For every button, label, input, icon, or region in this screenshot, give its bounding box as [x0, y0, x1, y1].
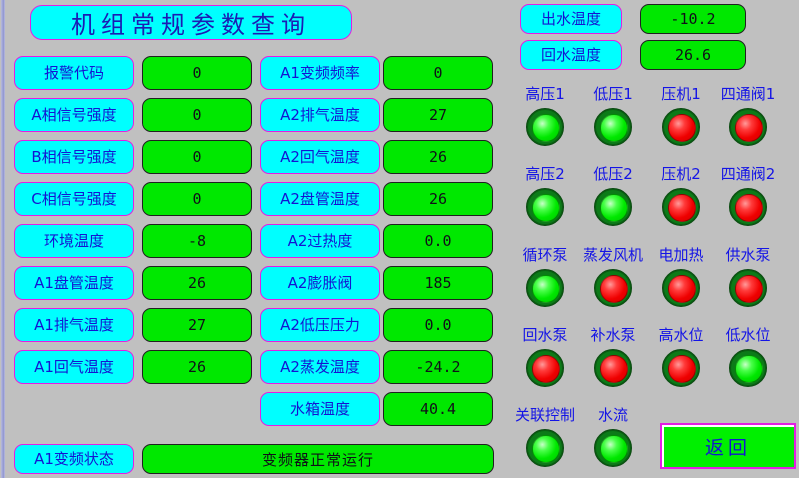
lamp-bulb-11	[735, 275, 763, 303]
water-temp-value-0: -10.2	[640, 4, 746, 34]
lamp-bulb-16	[532, 435, 560, 463]
indicator-lamp-12	[526, 349, 564, 387]
param-mid-label-3: A2盘管温度	[260, 182, 380, 216]
indicator-lamp-10	[662, 269, 700, 307]
indicator-lamp-17	[594, 429, 632, 467]
lamp-bulb-2	[668, 114, 696, 142]
param-mid-label-2: A2回气温度	[260, 140, 380, 174]
lamp-bulb-10	[668, 275, 696, 303]
water-temp-label-1: 回水温度	[520, 40, 622, 70]
lamp-label-7: 四通阀2	[705, 167, 791, 182]
lamp-bulb-15	[735, 355, 763, 383]
param-left-value-4: -8	[142, 224, 252, 258]
lamp-bulb-12	[532, 355, 560, 383]
indicator-lamp-8	[526, 269, 564, 307]
param-mid-value-7: -24.2	[383, 350, 493, 384]
param-left-value-0: 0	[142, 56, 252, 90]
lamp-label-17: 水流	[570, 408, 656, 423]
lamp-bulb-14	[668, 355, 696, 383]
indicator-lamp-11	[729, 269, 767, 307]
param-left-value-5: 26	[142, 266, 252, 300]
indicator-lamp-1	[594, 108, 632, 146]
param-left-label-5: A1盘管温度	[14, 266, 134, 300]
indicator-lamp-5	[594, 188, 632, 226]
lamp-bulb-0	[532, 114, 560, 142]
lamp-bulb-5	[600, 194, 628, 222]
water-temp-value-1: 26.6	[640, 40, 746, 70]
page-title: 机组常规参数查询	[30, 5, 352, 40]
param-left-label-0: 报警代码	[14, 56, 134, 90]
left-edge-scrollbar[interactable]	[1, 0, 5, 478]
param-mid-value-8: 40.4	[383, 392, 493, 426]
indicator-lamp-15	[729, 349, 767, 387]
indicator-lamp-14	[662, 349, 700, 387]
param-mid-label-8: 水箱温度	[260, 392, 380, 426]
indicator-lamp-16	[526, 429, 564, 467]
indicator-lamp-6	[662, 188, 700, 226]
param-mid-value-0: 0	[383, 56, 493, 90]
label-a1-inverter-status: A1变频状态	[14, 444, 134, 474]
param-left-label-1: A相信号强度	[14, 98, 134, 132]
indicator-lamp-7	[729, 188, 767, 226]
param-left-value-3: 0	[142, 182, 252, 216]
lamp-bulb-1	[600, 114, 628, 142]
param-left-label-4: 环境温度	[14, 224, 134, 258]
indicator-lamp-13	[594, 349, 632, 387]
param-mid-label-0: A1变频频率	[260, 56, 380, 90]
lamp-bulb-9	[600, 275, 628, 303]
lamp-bulb-4	[532, 194, 560, 222]
hmi-screen: 机组常规参数查询 报警代码0A相信号强度0B相信号强度0C相信号强度0环境温度-…	[0, 0, 799, 478]
indicator-lamp-9	[594, 269, 632, 307]
param-mid-label-1: A2排气温度	[260, 98, 380, 132]
param-mid-value-2: 26	[383, 140, 493, 174]
indicator-lamp-2	[662, 108, 700, 146]
param-left-label-3: C相信号强度	[14, 182, 134, 216]
lamp-label-11: 供水泵	[705, 248, 791, 263]
param-mid-value-3: 26	[383, 182, 493, 216]
param-left-value-6: 27	[142, 308, 252, 342]
indicator-lamp-3	[729, 108, 767, 146]
lamp-label-3: 四通阀1	[705, 87, 791, 102]
param-left-value-2: 0	[142, 140, 252, 174]
param-left-label-6: A1排气温度	[14, 308, 134, 342]
param-mid-label-5: A2膨胀阀	[260, 266, 380, 300]
lamp-bulb-7	[735, 194, 763, 222]
lamp-label-15: 低水位	[705, 328, 791, 343]
lamp-bulb-3	[735, 114, 763, 142]
status-inverter-message: 变频器正常运行	[142, 444, 494, 474]
lamp-bulb-8	[532, 275, 560, 303]
param-mid-value-5: 185	[383, 266, 493, 300]
param-left-label-7: A1回气温度	[14, 350, 134, 384]
lamp-bulb-13	[600, 355, 628, 383]
indicator-lamp-0	[526, 108, 564, 146]
lamp-bulb-17	[600, 435, 628, 463]
param-mid-value-6: 0.0	[383, 308, 493, 342]
param-left-label-2: B相信号强度	[14, 140, 134, 174]
param-left-value-1: 0	[142, 98, 252, 132]
indicator-lamp-4	[526, 188, 564, 226]
param-left-value-7: 26	[142, 350, 252, 384]
water-temp-label-0: 出水温度	[520, 4, 622, 34]
param-mid-value-1: 27	[383, 98, 493, 132]
param-mid-value-4: 0.0	[383, 224, 493, 258]
param-mid-label-4: A2过热度	[260, 224, 380, 258]
lamp-bulb-6	[668, 194, 696, 222]
param-mid-label-7: A2蒸发温度	[260, 350, 380, 384]
param-mid-label-6: A2低压压力	[260, 308, 380, 342]
return-button[interactable]: 返回	[660, 423, 796, 469]
